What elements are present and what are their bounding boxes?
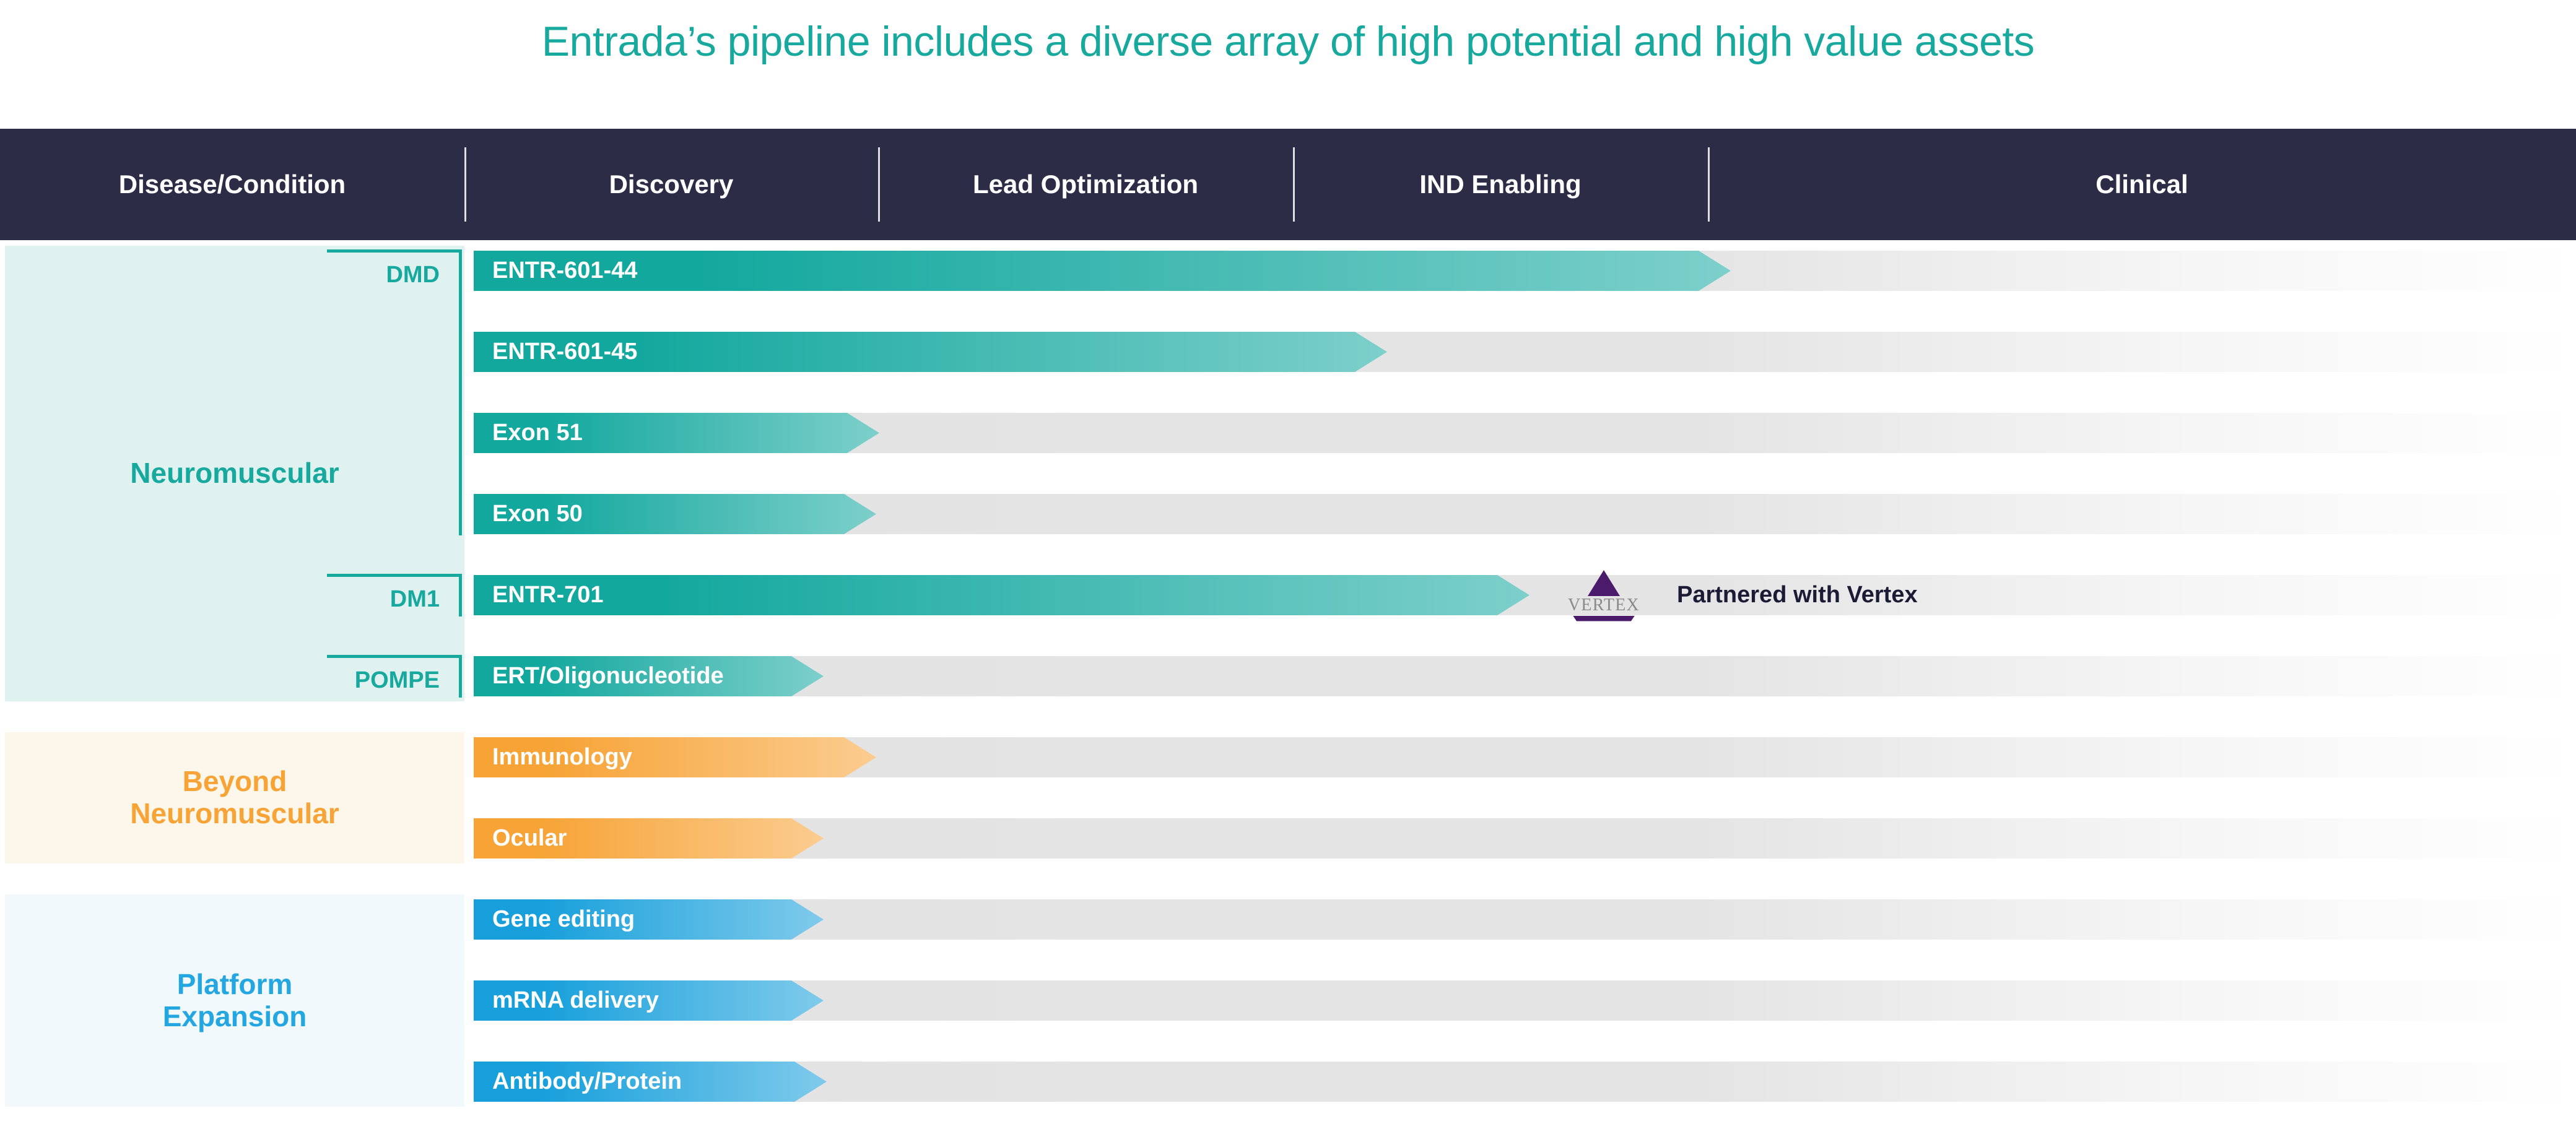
pipeline-bar-label: ERT/Oligonucleotide [492,656,724,696]
pipeline-row: ERT/Oligonucleotide [474,656,2576,696]
vertex-triangle-icon [1588,570,1620,596]
header-divider-2 [878,147,880,222]
pipeline-row: Gene editing [474,899,2576,940]
pipeline-bar-label: Antibody/Protein [492,1062,682,1102]
sub-condition-label-pompe: POMPE [186,667,440,694]
pipeline-bar-label: ENTR-701 [492,575,604,615]
pipeline-bar-label: Ocular [492,818,567,859]
pipeline-bar-label: mRNA delivery [492,980,659,1021]
category-label: PlatformExpansion [150,969,320,1032]
pipeline-row: Immunology [474,737,2576,777]
category-label: Neuromuscular [118,457,351,490]
category-label: BeyondNeuromuscular [118,766,351,829]
pipeline-row: ENTR-601-45 [474,332,2576,372]
category-panel-beyond-neuromuscular: BeyondNeuromuscular [5,732,464,863]
pipeline-bar-label: Gene editing [492,899,635,940]
vertex-wordmark: VERTEX [1568,597,1640,614]
pipeline-row: ENTR-701VERTEXPartnered with Vertex [474,575,2576,615]
header-divider-4 [1708,147,1710,222]
pipeline-bar-label: Immunology [492,737,632,777]
header-cell-lead-optimization: Lead Optimization [878,129,1293,240]
pipeline-chart: Entrada’s pipeline includes a diverse ar… [0,0,2576,1129]
pipeline-row: ENTR-601-44 [474,251,2576,291]
partner-text: Partnered with Vertex [1677,582,1918,608]
header-cell-disease-condition: Disease/Condition [0,129,464,240]
pipeline-bar-label: Exon 50 [492,494,583,534]
header-cell-ind-enabling: IND Enabling [1293,129,1708,240]
header-cell-clinical: Clinical [1708,129,2576,240]
pipeline-row: mRNA delivery [474,980,2576,1021]
pipeline-bar[interactable] [474,575,1529,615]
pipeline-row: Exon 51 [474,413,2576,453]
pipeline-row: Ocular [474,818,2576,859]
partner-annotation: VERTEXPartnered with Vertex [1554,575,1918,615]
stage-header-bar: Disease/Condition Discovery Lead Optimiz… [0,129,2576,240]
pipeline-bar-label: ENTR-601-45 [492,332,637,372]
bracket-dmd [327,249,462,535]
sub-condition-label-dm1: DM1 [186,586,440,613]
vertex-logo-icon: VERTEX [1554,569,1653,621]
sub-condition-label-dmd: DMD [186,262,440,288]
header-divider-3 [1293,147,1295,222]
pipeline-bar[interactable] [474,251,1731,291]
pipeline-row: Antibody/Protein [474,1062,2576,1102]
page-title: Entrada’s pipeline includes a diverse ar… [0,17,2576,66]
pipeline-row: Exon 50 [474,494,2576,534]
header-cell-discovery: Discovery [464,129,878,240]
category-panel-platform-expansion: PlatformExpansion [5,894,464,1107]
pipeline-bar-label: ENTR-601-44 [492,251,637,291]
pipeline-bar-label: Exon 51 [492,413,583,453]
vertex-underbar-icon [1573,616,1635,621]
header-divider-1 [464,147,466,222]
